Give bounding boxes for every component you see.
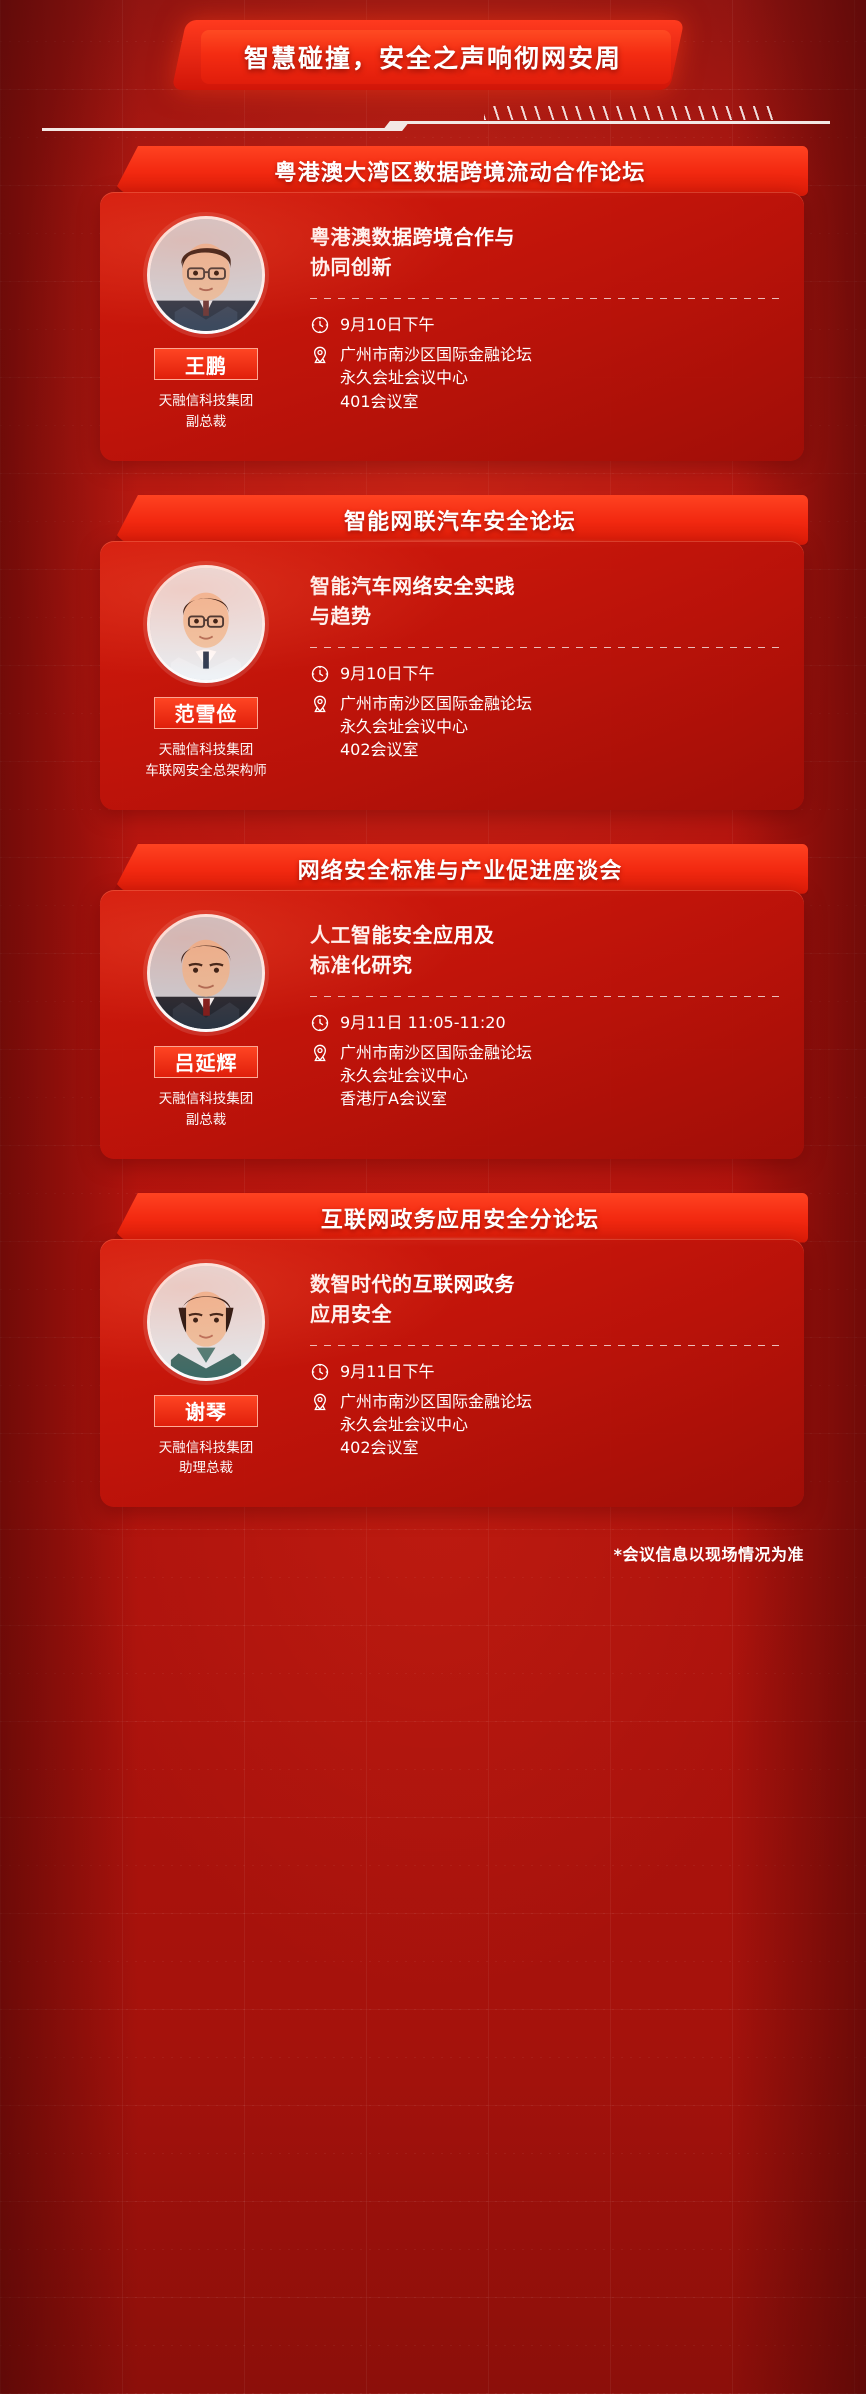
session-time: 9月11日下午 — [340, 1360, 435, 1383]
speaker-role: 车联网安全总架构师 — [145, 761, 267, 782]
speaker-role: 副总裁 — [159, 1110, 254, 1131]
dashed-separator — [310, 647, 786, 648]
location-line-1: 广州市南沙区国际金融论坛 — [340, 343, 532, 366]
forum-title-bar: 网络安全标准与产业促进座谈会 — [112, 844, 808, 894]
session-location: 广州市南沙区国际金融论坛 永久会址会议中心 402会议室 — [340, 692, 532, 762]
location-line-1: 广州市南沙区国际金融论坛 — [340, 1041, 532, 1064]
speaker-identity: 王鹏 天融信科技集团 副总裁 — [118, 216, 294, 433]
session-time-row: 9月11日下午 — [310, 1360, 786, 1383]
portrait-illustration — [150, 219, 262, 331]
divider-line-high — [400, 121, 830, 124]
dashed-separator — [310, 1345, 786, 1346]
session-details: 人工智能安全应用及 标准化研究 9月11日 11:05-11:20 — [310, 914, 786, 1131]
clock-icon — [310, 664, 330, 684]
speaker-company: 天融信科技集团 — [159, 393, 254, 409]
session-time-row: 9月10日下午 — [310, 313, 786, 336]
topic-line-2: 标准化研究 — [310, 950, 786, 980]
topic-line-2: 应用安全 — [310, 1299, 786, 1329]
speaker-name-plate: 王鹏 — [154, 348, 258, 380]
forum-title: 智能网联汽车安全论坛 — [344, 504, 576, 536]
portrait-illustration — [150, 568, 262, 680]
speaker-card: 谢琴 天融信科技集团 助理总裁 数智时代的互联网政务 应用安全 — [100, 1239, 804, 1508]
decorative-divider — [0, 104, 866, 140]
session-topic: 粤港澳数据跨境合作与 协同创新 — [310, 222, 786, 282]
topic-line-1: 粤港澳数据跨境合作与 — [310, 225, 515, 249]
header-banner: 智慧碰撞，安全之声响彻网安周 — [191, 26, 675, 88]
speaker-name: 谢琴 — [185, 1396, 227, 1425]
speaker-role: 副总裁 — [159, 412, 254, 433]
session-location-row: 广州市南沙区国际金融论坛 永久会址会议中心 402会议室 — [310, 692, 786, 762]
session-location: 广州市南沙区国际金融论坛 永久会址会议中心 香港厅A会议室 — [340, 1041, 532, 1111]
topic-line-1: 人工智能安全应用及 — [310, 923, 495, 947]
poster-content: 智慧碰撞，安全之声响彻网安周 粤港澳大湾区数据跨境流动合作论坛 — [0, 0, 866, 1565]
session-time: 9月10日下午 — [340, 313, 435, 336]
session-time-row: 9月11日 11:05-11:20 — [310, 1011, 786, 1034]
speaker-identity: 范雪俭 天融信科技集团 车联网安全总架构师 — [118, 565, 294, 782]
clock-icon — [310, 1013, 330, 1033]
location-line-2: 永久会址会议中心 — [340, 1413, 532, 1436]
avatar — [147, 565, 265, 683]
location-line-3: 香港厅A会议室 — [340, 1087, 532, 1110]
speaker-org: 天融信科技集团 车联网安全总架构师 — [145, 740, 267, 782]
portrait-illustration — [150, 917, 262, 1029]
speaker-name-plate: 谢琴 — [154, 1395, 258, 1427]
speaker-name-plate: 吕延辉 — [154, 1046, 258, 1078]
location-pin-icon — [310, 345, 330, 365]
speaker-identity: 谢琴 天融信科技集团 助理总裁 — [118, 1263, 294, 1480]
session-details: 数智时代的互联网政务 应用安全 9月11日下午 — [310, 1263, 786, 1480]
speaker-name: 范雪俭 — [175, 698, 238, 727]
speaker-org: 天融信科技集团 助理总裁 — [159, 1438, 254, 1480]
speaker-card: 王鹏 天融信科技集团 副总裁 粤港澳数据跨境合作与 协同创新 — [100, 192, 804, 461]
clock-icon — [310, 315, 330, 335]
topic-line-2: 协同创新 — [310, 252, 786, 282]
page-title: 智慧碰撞，安全之声响彻网安周 — [244, 39, 622, 75]
topic-line-1: 数智时代的互联网政务 — [310, 1272, 515, 1296]
speaker-org: 天融信科技集团 副总裁 — [159, 391, 254, 433]
clock-icon — [310, 1362, 330, 1382]
location-line-1: 广州市南沙区国际金融论坛 — [340, 1390, 532, 1413]
session-details: 粤港澳数据跨境合作与 协同创新 9月10日下午 — [310, 216, 786, 433]
forum-section: 互联网政务应用安全分论坛 — [0, 1193, 866, 1508]
portrait-illustration — [150, 1266, 262, 1378]
location-line-1: 广州市南沙区国际金融论坛 — [340, 692, 532, 715]
session-topic: 智能汽车网络安全实践 与趋势 — [310, 571, 786, 631]
dashed-separator — [310, 298, 786, 299]
avatar — [147, 1263, 265, 1381]
session-time: 9月11日 11:05-11:20 — [340, 1011, 506, 1034]
speaker-company: 天融信科技集团 — [159, 742, 254, 758]
location-line-3: 402会议室 — [340, 738, 532, 761]
speaker-org: 天融信科技集团 副总裁 — [159, 1089, 254, 1131]
session-time-row: 9月10日下午 — [310, 662, 786, 685]
session-time: 9月10日下午 — [340, 662, 435, 685]
speaker-card: 范雪俭 天融信科技集团 车联网安全总架构师 智能汽车网络安全实践 与趋势 — [100, 541, 804, 810]
location-pin-icon — [310, 1043, 330, 1063]
location-line-2: 永久会址会议中心 — [340, 715, 532, 738]
dashed-separator — [310, 996, 786, 997]
forum-title-bar: 智能网联汽车安全论坛 — [112, 495, 808, 545]
forum-title: 互联网政务应用安全分论坛 — [321, 1202, 599, 1234]
speaker-name: 王鹏 — [185, 350, 227, 379]
speaker-company: 天融信科技集团 — [159, 1440, 254, 1456]
topic-line-2: 与趋势 — [310, 601, 786, 631]
forum-title: 粤港澳大湾区数据跨境流动合作论坛 — [274, 155, 645, 187]
location-pin-icon — [310, 1392, 330, 1412]
speaker-card: 吕延辉 天融信科技集团 副总裁 人工智能安全应用及 标准化研究 — [100, 890, 804, 1159]
header: 智慧碰撞，安全之声响彻网安周 — [0, 0, 866, 88]
location-line-2: 永久会址会议中心 — [340, 366, 532, 389]
forum-section: 网络安全标准与产业促进座谈会 — [0, 844, 866, 1159]
forum-section: 粤港澳大湾区数据跨境流动合作论坛 — [0, 146, 866, 461]
session-location-row: 广州市南沙区国际金融论坛 永久会址会议中心 402会议室 — [310, 1390, 786, 1460]
hatch-lines-icon — [484, 106, 780, 120]
session-topic: 数智时代的互联网政务 应用安全 — [310, 1269, 786, 1329]
footer-disclaimer: *会议信息以现场情况为准 — [0, 1541, 804, 1565]
session-location: 广州市南沙区国际金融论坛 永久会址会议中心 402会议室 — [340, 1390, 532, 1460]
location-line-2: 永久会址会议中心 — [340, 1064, 532, 1087]
speaker-identity: 吕延辉 天融信科技集团 副总裁 — [118, 914, 294, 1131]
forum-title-bar: 粤港澳大湾区数据跨境流动合作论坛 — [112, 146, 808, 196]
location-line-3: 401会议室 — [340, 390, 532, 413]
avatar — [147, 914, 265, 1032]
speaker-name: 吕延辉 — [175, 1047, 238, 1076]
session-location-row: 广州市南沙区国际金融论坛 永久会址会议中心 401会议室 — [310, 343, 786, 413]
location-pin-icon — [310, 694, 330, 714]
topic-line-1: 智能汽车网络安全实践 — [310, 574, 515, 598]
divider-line-low — [42, 128, 390, 131]
avatar — [147, 216, 265, 334]
session-details: 智能汽车网络安全实践 与趋势 9月10日下午 — [310, 565, 786, 782]
session-location-row: 广州市南沙区国际金融论坛 永久会址会议中心 香港厅A会议室 — [310, 1041, 786, 1111]
forum-title-bar: 互联网政务应用安全分论坛 — [112, 1193, 808, 1243]
forum-section: 智能网联汽车安全论坛 — [0, 495, 866, 810]
session-topic: 人工智能安全应用及 标准化研究 — [310, 920, 786, 980]
forum-title: 网络安全标准与产业促进座谈会 — [298, 853, 623, 885]
session-location: 广州市南沙区国际金融论坛 永久会址会议中心 401会议室 — [340, 343, 532, 413]
speaker-name-plate: 范雪俭 — [154, 697, 258, 729]
speaker-role: 助理总裁 — [159, 1458, 254, 1479]
speaker-company: 天融信科技集团 — [159, 1091, 254, 1107]
location-line-3: 402会议室 — [340, 1436, 532, 1459]
